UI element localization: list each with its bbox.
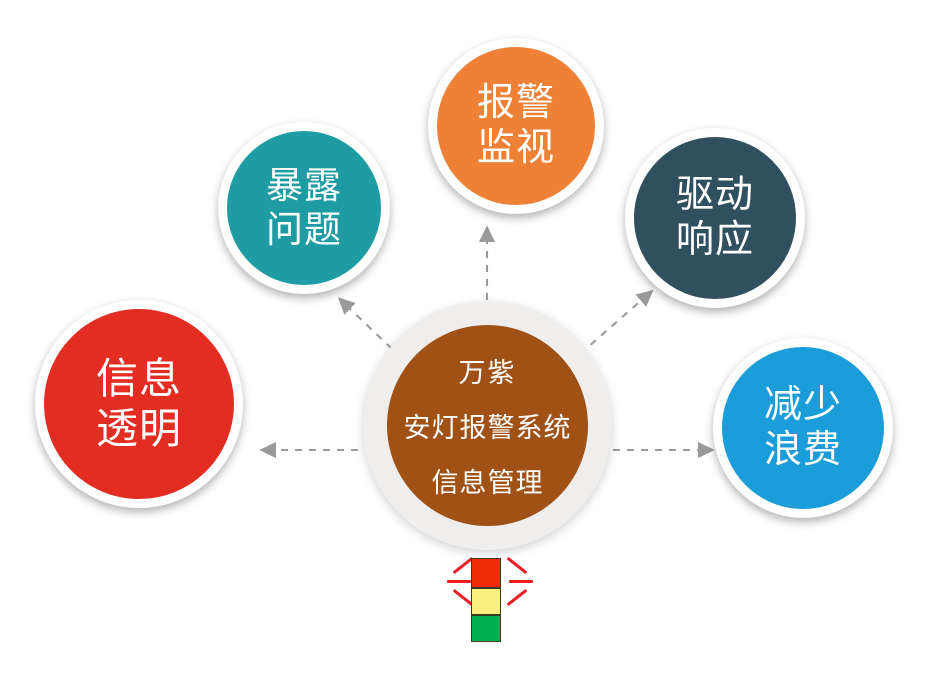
center-node-line3: 信息管理 xyxy=(432,461,544,500)
node-information-transparency[interactable]: 信息 透明 xyxy=(35,300,243,508)
node-drive-response[interactable]: 驱动 响应 xyxy=(625,128,805,308)
diagram-canvas: 报警 监视 暴露 问题 驱动 响应 信息 透明 减少 浪费 万紫 安灯报警系统 … xyxy=(0,0,939,680)
center-node-disc: 万紫 安灯报警系统 信息管理 xyxy=(387,325,588,526)
node-drive-response-label: 驱动 响应 xyxy=(676,173,754,263)
node-alarm-monitor-label: 报警 监视 xyxy=(477,81,555,171)
node-expose-problem-label: 暴露 问题 xyxy=(266,164,342,251)
node-information-transparency-label: 信息 透明 xyxy=(96,354,182,453)
center-node-line1: 万紫 xyxy=(459,351,517,390)
andon-light-icon xyxy=(455,548,525,648)
center-node-line2: 安灯报警系统 xyxy=(404,406,572,445)
node-reduce-waste-label: 减少 浪费 xyxy=(764,383,842,473)
flash-ray xyxy=(507,589,528,606)
connector-center-to-drive-response xyxy=(580,298,644,354)
flash-ray xyxy=(509,580,533,583)
node-reduce-waste[interactable]: 减少 浪费 xyxy=(713,338,893,518)
center-node[interactable]: 万紫 安灯报警系统 信息管理 xyxy=(363,301,612,550)
node-alarm-monitor[interactable]: 报警 监视 xyxy=(428,38,604,214)
flash-ray xyxy=(507,557,528,574)
flash-ray xyxy=(447,580,471,583)
yellow-lamp xyxy=(471,588,501,615)
red-lamp xyxy=(471,558,501,588)
green-lamp xyxy=(471,615,501,642)
node-expose-problem[interactable]: 暴露 问题 xyxy=(218,122,390,294)
